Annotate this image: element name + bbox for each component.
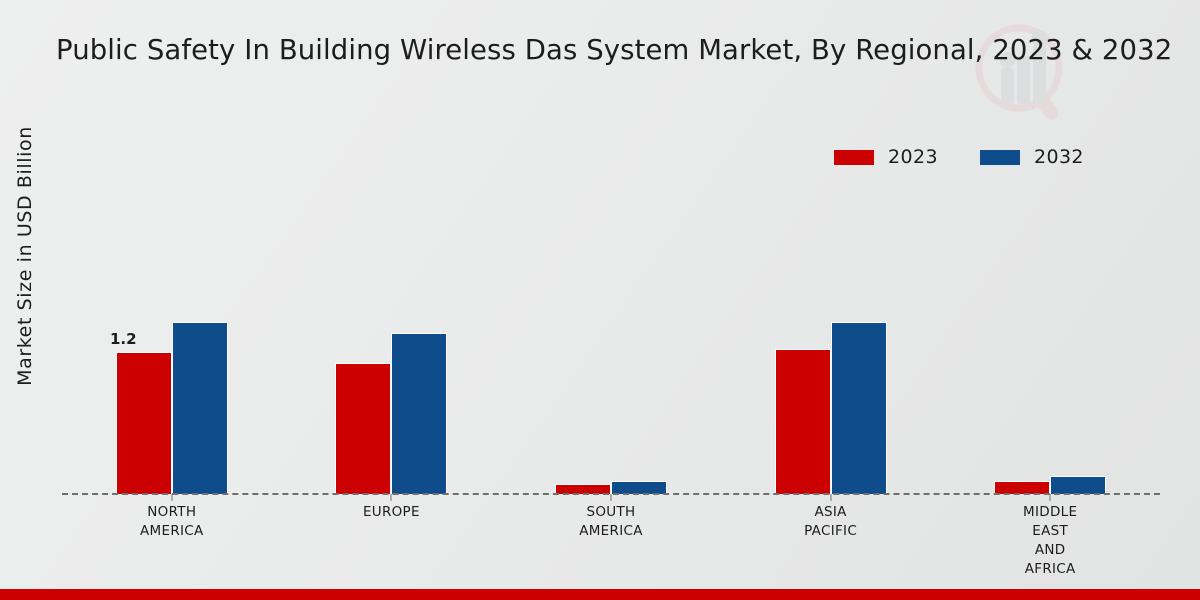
bars-europe [282,190,502,494]
bar-group-middle-east-and-africa [940,190,1160,494]
bar-group-north-america: 1.2 [62,190,282,494]
y-axis-label: Market Size in USD Billion [14,86,36,426]
y-axis-label-container: Market Size in USD Billion [0,0,40,600]
category-line: ASIA [721,503,941,522]
axis-tick-south-america [610,494,611,501]
category-line: AFRICA [940,560,1160,579]
bar-europe-2023[interactable] [335,363,391,494]
category-label-asia-pacific: ASIA PACIFIC [721,503,941,580]
category-line: PACIFIC [721,522,941,541]
bars-north-america [62,190,282,494]
x-axis-baseline [62,493,1160,495]
bars-asia-pacific [721,190,941,494]
category-line: AMERICA [501,522,721,541]
legend-swatch-2032 [980,150,1020,165]
bar-groups: 1.2 [62,190,1160,494]
category-label-middle-east-and-africa: MIDDLE EAST AND AFRICA [940,503,1160,580]
x-axis-category-labels: NORTH AMERICA EUROPE SOUTH AMERICA ASIA … [62,503,1160,580]
category-line: AND [940,541,1160,560]
legend-item-2032[interactable]: 2032 [980,146,1084,168]
category-line: MIDDLE [940,503,1160,522]
plot-area: 1.2 [62,190,1160,494]
bar-group-asia-pacific [721,190,941,494]
bar-asia-pacific-2032[interactable] [831,322,887,494]
legend-item-2023[interactable]: 2023 [834,146,938,168]
bar-north-america-2023[interactable] [116,352,172,494]
bar-middle-east-and-africa-2032[interactable] [1050,476,1106,494]
bar-europe-2032[interactable] [391,333,447,494]
legend-label-2032: 2032 [1034,146,1084,168]
category-line: AMERICA [62,522,282,541]
bar-north-america-2032[interactable] [172,322,228,494]
category-line: EAST [940,522,1160,541]
chart-title: Public Safety In Building Wireless Das S… [56,32,1176,69]
category-label-north-america: NORTH AMERICA [62,503,282,580]
bar-group-europe [282,190,502,494]
category-label-south-america: SOUTH AMERICA [501,503,721,580]
bar-value-label-north-america-2023: 1.2 [110,330,137,348]
chart-legend: 2023 2032 [834,146,1084,168]
category-line: NORTH [62,503,282,522]
axis-tick-middle-east-and-africa [1050,494,1051,501]
axis-tick-asia-pacific [830,494,831,501]
legend-swatch-2023 [834,150,874,165]
bars-south-america [501,190,721,494]
axis-tick-europe [391,494,392,501]
category-line: EUROPE [282,503,502,522]
category-line: SOUTH [501,503,721,522]
bar-asia-pacific-2023[interactable] [775,349,831,494]
category-label-europe: EUROPE [282,503,502,580]
bottom-accent-band [0,589,1200,600]
axis-tick-north-america [171,494,172,501]
bars-middle-east-and-africa [940,190,1160,494]
legend-label-2023: 2023 [888,146,938,168]
bar-group-south-america [501,190,721,494]
chart-figure: Public Safety In Building Wireless Das S… [0,0,1200,600]
